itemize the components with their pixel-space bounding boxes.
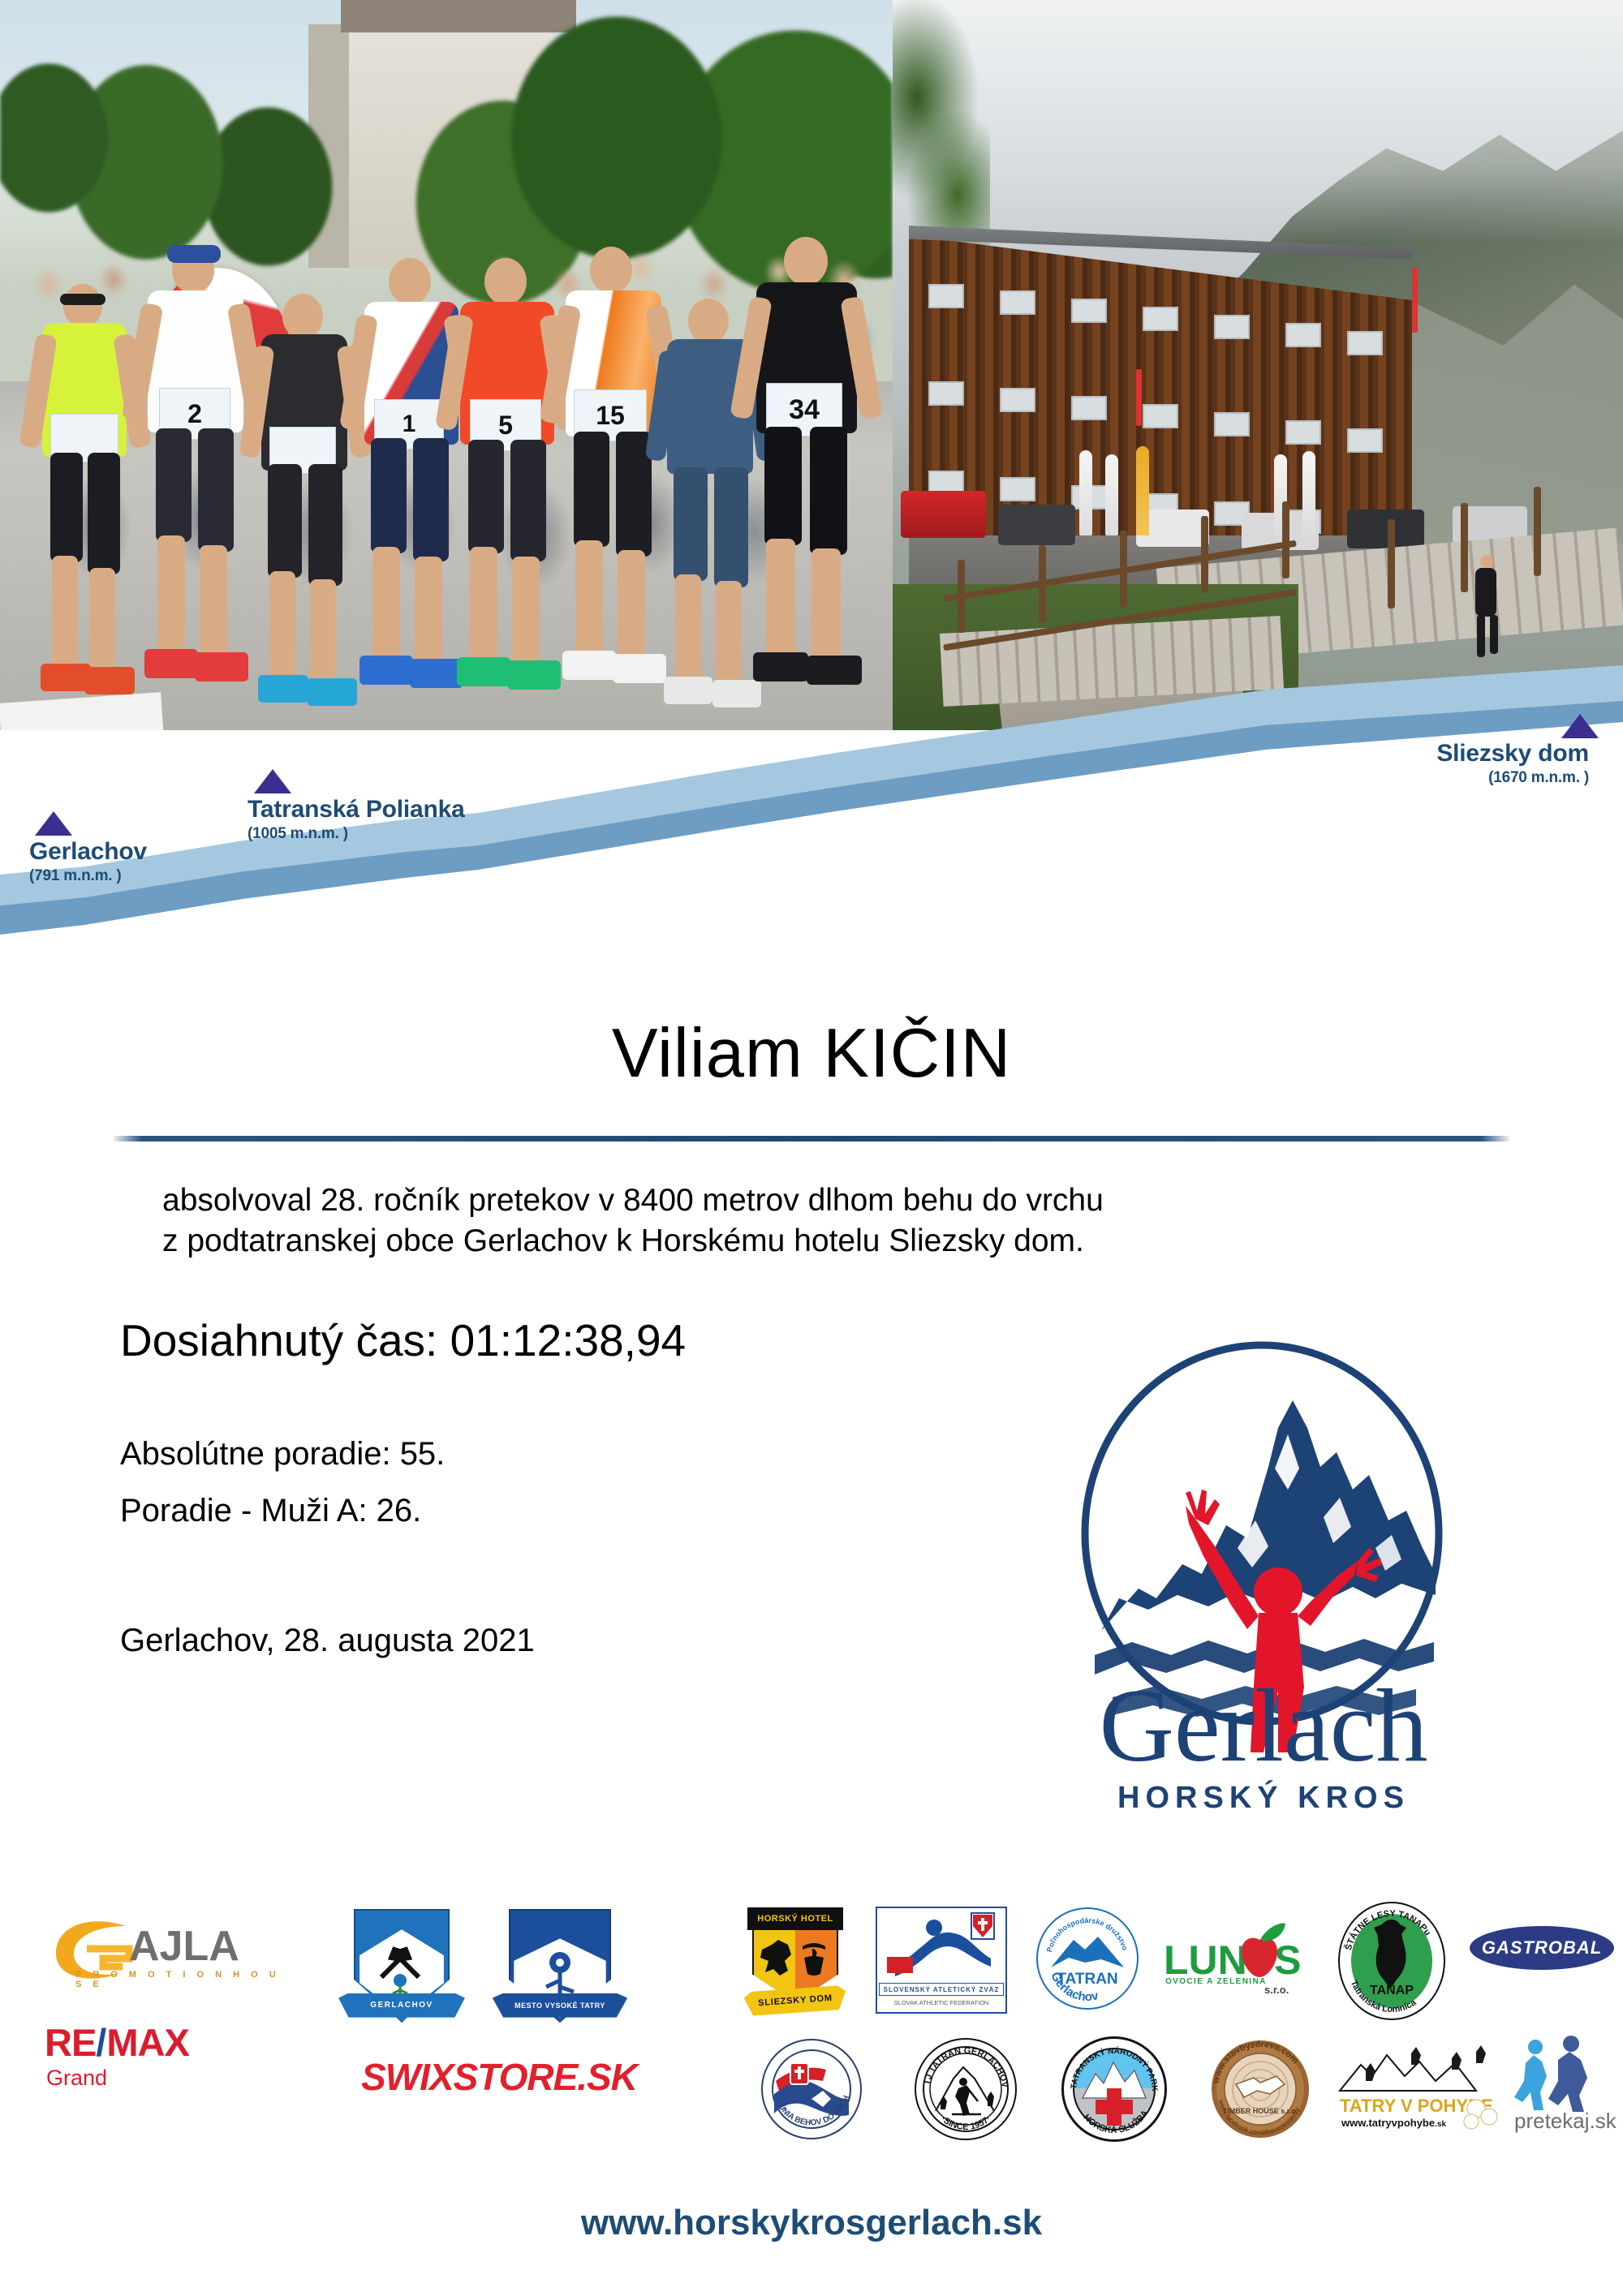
sponsor-swixstore-sk: SWIXSTORE.SK <box>325 2044 674 2109</box>
sponsor-tatry-v-pohybe: TATRY V POHYBE www.tatryvpohybe.sk <box>1331 2036 1501 2142</box>
sponsor-mesto-vysoke-tatry-crest: MESTO VYSOKÉ TATRY <box>503 1905 617 2027</box>
lunys-wordmark: LUNYS <box>1164 1937 1301 1983</box>
sponsor-tj-tatran-gerlachov: TJ TATRAN GERLACHOV ·SINCE 1957· <box>909 2032 1022 2146</box>
sponsor-ajla-promotion-house: AJLA P R O M O T I O N H O U S E <box>45 1907 288 1996</box>
gastrobal-wordmark: GASTROBAL <box>1470 1926 1614 1970</box>
sponsor-logos-section: AJLA P R O M O T I O N H O U S E RE/MAX … <box>0 1890 1623 2215</box>
sponsor-gastrobal: GASTROBAL <box>1469 1920 1615 1976</box>
elevation-label-tatranska-polianka: Tatranská Polianka (1005 m.n.m. ) <box>248 798 465 841</box>
description-line-1: absolvoval 28. ročník pretekov v 8400 me… <box>162 1180 1493 1221</box>
lone-runner-figure <box>1480 555 1493 568</box>
trail-marker-post <box>1412 268 1418 333</box>
elevation-point-name: Gerlachov <box>29 840 147 864</box>
svg-text:www.tatryvpohybe.sk: www.tatryvpohybe.sk <box>1341 2117 1446 2129</box>
trail-marker-post <box>1136 369 1142 426</box>
sponsor-gerlachov-crest: GERLACHOV <box>349 1905 454 2027</box>
sponsor-slovensky-atleticky-zvaz: SLOVENSKÝ ATLETICKÝ ZVÄZ SLOVAK ATHLETIC… <box>872 1903 1010 2017</box>
logo-wordmark: Gerlach <box>1099 1668 1427 1783</box>
sponsor-horska-sluzba-tanap: TATRANSKÝ NÁRODNÝ PARK HORSKÁ SLUŽBA <box>1055 2030 1173 2148</box>
hotel-crest-top-label: HORSKÝ HOTEL <box>747 1907 843 1930</box>
sponsor-unia-behov-do-vrchu: ÚNIA BEHOV DO VRCHU <box>755 2032 868 2146</box>
runner-figure <box>24 276 146 730</box>
eagle-icon <box>760 1940 791 1976</box>
certificate-body: Viliam KIČIN absolvoval 28. ročník prete… <box>0 957 1623 1898</box>
headband-icon <box>167 245 221 263</box>
ajla-subtitle: P R O M O T I O N H O U S E <box>75 1970 288 1989</box>
remax-subtitle: Grand <box>46 2066 107 2091</box>
lunys-subtitle: OVOCIE A ZELENINA <box>1165 1977 1267 1986</box>
gerlach-horsky-kros-logo: Gerlach HORSKÝ KROS <box>1035 1331 1489 1834</box>
race-start-runners-photo: 2 1 <box>0 0 893 730</box>
svg-text:TANAP: TANAP <box>1370 1984 1414 1997</box>
hotel-crest-ribbon-label: SLIEZSKY DOM <box>743 1984 847 2016</box>
elevation-marker-tatranska-polianka <box>254 769 291 793</box>
sponsor-horsky-hotel-sliezsky-dom: HORSKÝ HOTEL SLIEZSKY DOM <box>738 1900 852 2022</box>
description-line-2: z podtatranskej obce Gerlachov k Horském… <box>162 1221 1493 1262</box>
sponsor-pd-tatran-gerlachov: TATRAN Poľnohospodárske družstvo Gerlach… <box>1031 1902 1144 2015</box>
sliezsky-dom-hotel-photo <box>893 0 1623 730</box>
sunglasses-icon <box>60 294 105 305</box>
runner-figure: 34 <box>738 235 876 730</box>
crest-ribbon-label: GERLACHOV <box>338 1993 465 2018</box>
sponsor-statne-lesy-tanapu: TANAP ŠTÁTNE LESY TANAPu Tatranská Lomni… <box>1331 1900 1453 2022</box>
footer-website: www.horskykrosgerlach.sk <box>0 2203 1623 2243</box>
header-photo-band: 2 1 <box>0 0 1623 730</box>
svg-text:s.r.o.: s.r.o. <box>1264 1984 1289 1996</box>
svg-text:AJLA: AJLA <box>129 1923 239 1970</box>
place-and-date: Gerlachov, 28. augusta 2021 <box>120 1623 535 1659</box>
achieved-time: Dosiahnutý čas: 01:12:38,94 <box>120 1314 686 1366</box>
elevation-marker-gerlachov <box>35 811 72 836</box>
sponsor-remax-grand: RE/MAX Grand <box>45 2020 272 2118</box>
logo-tagline: HORSKÝ KROS <box>1117 1779 1410 1815</box>
elevation-point-name: Sliezsky dom <box>1370 742 1589 766</box>
elevation-profile-band: Gerlachov (791 m.n.m. ) Tatranská Polian… <box>0 665 1623 957</box>
elevation-point-altitude: (1005 m.n.m. ) <box>248 826 465 841</box>
saz-subtitle: SLOVAK ATHLETIC FEDERATION <box>879 1999 1004 2006</box>
elevation-point-altitude: (791 m.n.m. ) <box>29 868 147 884</box>
saz-title: SLOVENSKÝ ATLETICKÝ ZVÄZ <box>879 1983 1004 1996</box>
overall-rank: Absolútne poradie: 55. <box>120 1436 445 1473</box>
ambulance-vehicle <box>901 491 986 538</box>
crest-ribbon-label: MESTO VYSOKÉ TATRY <box>493 1993 627 2018</box>
elevation-point-name: Tatranská Polianka <box>248 798 465 822</box>
category-rank: Poradie - Muži A: 26. <box>120 1493 421 1529</box>
elevation-label-sliezsky-dom: Sliezsky dom (1670 m.n.m. ) <box>1370 742 1589 785</box>
pharmacy-bowl-icon <box>803 1943 825 1950</box>
divider <box>114 1136 1509 1142</box>
elevation-marker-sliezsky-dom <box>1561 714 1599 738</box>
mountain-icon <box>1051 1937 1124 1967</box>
elevation-label-gerlachov: Gerlachov (791 m.n.m. ) <box>29 840 147 884</box>
athlete-name: Viliam KIČIN <box>0 1014 1623 1094</box>
pretekaj-wordmark: pretekaj.sk <box>1514 2109 1617 2134</box>
sponsor-stavbyzdreva-timber-house: www.stavbyzdreva.com www.facebook.com/dr… <box>1201 2030 1319 2148</box>
svg-text:TIMBER HOUSE s.r.o.: TIMBER HOUSE s.r.o. <box>1222 2107 1298 2115</box>
swixstore-wordmark: SWIXSTORE.SK <box>361 2055 637 2099</box>
flower-icon <box>394 1974 407 1987</box>
sponsor-lunys-sro: LUNYS s.r.o. OVOCIE A ZELENINA <box>1160 1907 1307 2012</box>
certificate-description: absolvoval 28. ročník pretekov v 8400 me… <box>162 1180 1493 1262</box>
sponsor-pretekaj-sk: pretekaj.sk <box>1509 2030 1623 2152</box>
elevation-point-altitude: (1670 m.n.m. ) <box>1370 770 1589 785</box>
runner-pair-icon <box>1514 2036 1587 2112</box>
